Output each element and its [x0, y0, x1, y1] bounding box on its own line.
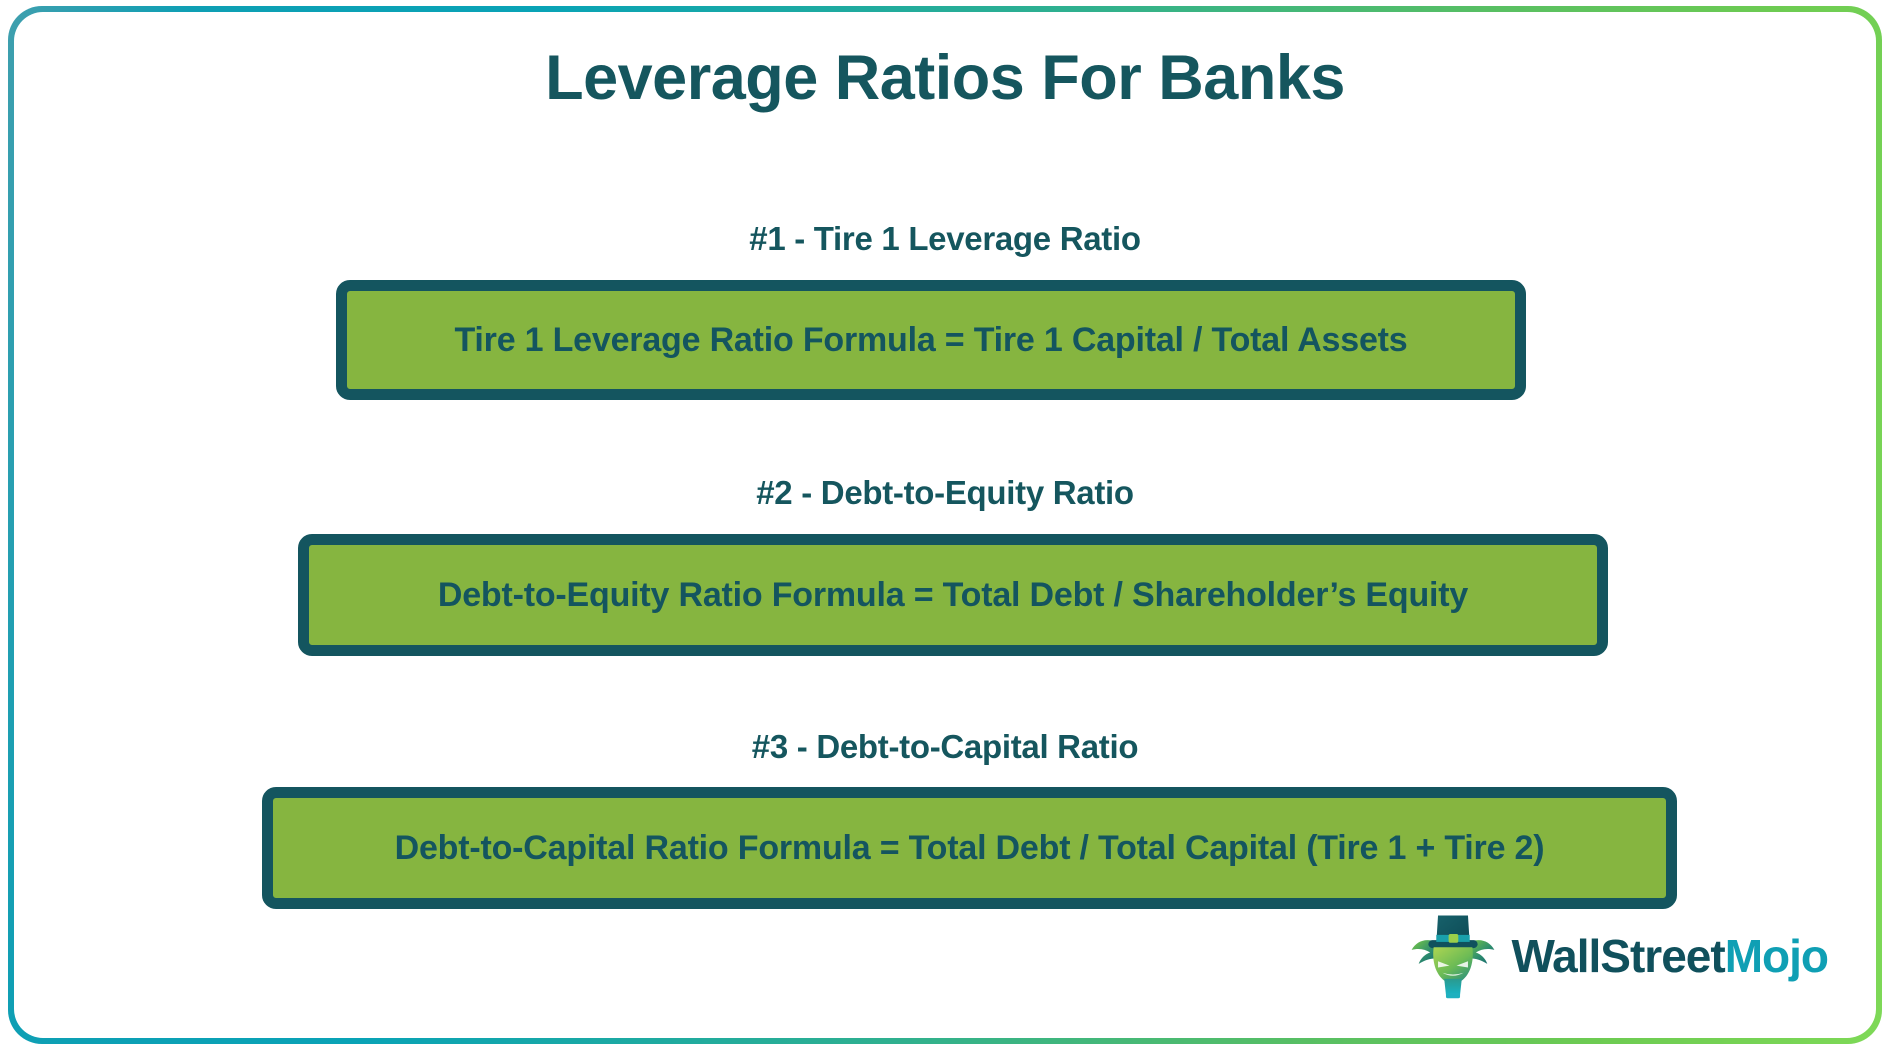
formula-box-2: Debt-to-Equity Ratio Formula = Total Deb…	[298, 534, 1608, 656]
infographic-card-frame: Leverage Ratios For Banks #1 - Tire 1 Le…	[8, 6, 1882, 1044]
section-heading-3: #3 - Debt-to-Capital Ratio	[14, 728, 1876, 766]
infographic-card: Leverage Ratios For Banks #1 - Tire 1 Le…	[14, 12, 1876, 1038]
formula-box-3: Debt-to-Capital Ratio Formula = Total De…	[262, 787, 1677, 909]
wallstreetmojo-logo: WallStreetMojo	[1409, 910, 1828, 1002]
formula-text-1: Tire 1 Leverage Ratio Formula = Tire 1 C…	[440, 321, 1421, 360]
logo-word-primary: WallStreet	[1511, 930, 1724, 982]
logo-word-accent: Mojo	[1725, 930, 1828, 982]
formula-text-2: Debt-to-Equity Ratio Formula = Total Deb…	[424, 576, 1482, 615]
logo-wordmark: WallStreetMojo	[1511, 933, 1828, 979]
formula-text-3: Debt-to-Capital Ratio Formula = Total De…	[381, 829, 1559, 868]
page-title: Leverage Ratios For Banks	[14, 42, 1876, 114]
section-heading-2: #2 - Debt-to-Equity Ratio	[14, 474, 1876, 512]
formula-box-1: Tire 1 Leverage Ratio Formula = Tire 1 C…	[336, 280, 1526, 400]
bull-with-tophat-icon	[1409, 910, 1497, 1002]
section-heading-1: #1 - Tire 1 Leverage Ratio	[14, 220, 1876, 258]
